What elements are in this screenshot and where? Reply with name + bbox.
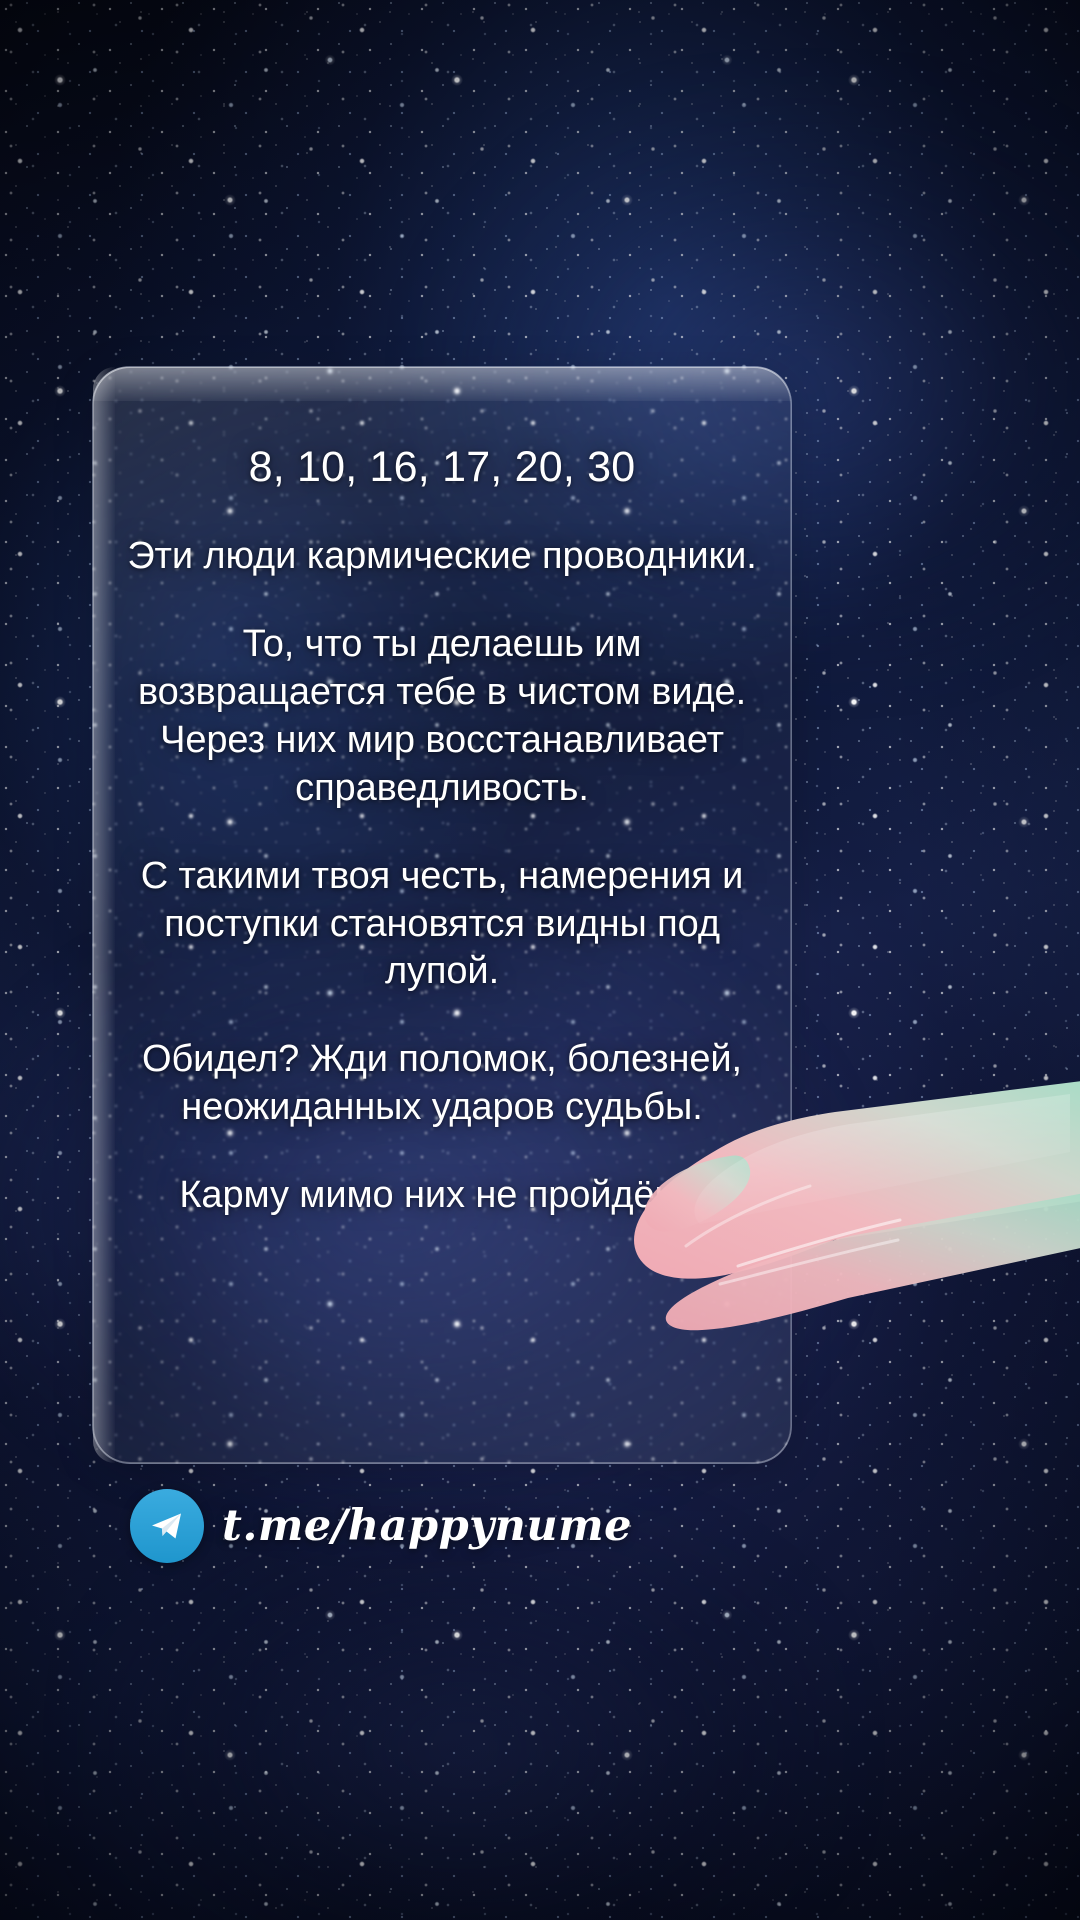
telegram-badge[interactable]: t.me/happynume	[130, 1489, 632, 1563]
paragraph-magnifier: С такими твоя честь, намерения и поступк…	[116, 853, 768, 997]
card-text-content: 8, 10, 16, 17, 20, 30 Эти люди кармическ…	[90, 366, 794, 1464]
poster-canvas: 8, 10, 16, 17, 20, 30 Эти люди кармическ…	[0, 0, 1080, 1920]
karmic-numbers-title: 8, 10, 16, 17, 20, 30	[249, 444, 636, 491]
paragraph-closing: Карму мимо них не пройдёшь	[116, 1172, 768, 1220]
paragraph-return: То, что ты делаешь им возвращается тебе …	[116, 621, 768, 813]
telegram-handle-text[interactable]: t.me/happynume	[222, 1501, 632, 1551]
paragraph-intro: Эти люди кармические проводники.	[116, 533, 768, 581]
telegram-paper-plane-icon[interactable]	[130, 1489, 204, 1563]
paragraph-consequences: Обидел? Жди поломок, болезней, неожиданн…	[116, 1036, 768, 1132]
